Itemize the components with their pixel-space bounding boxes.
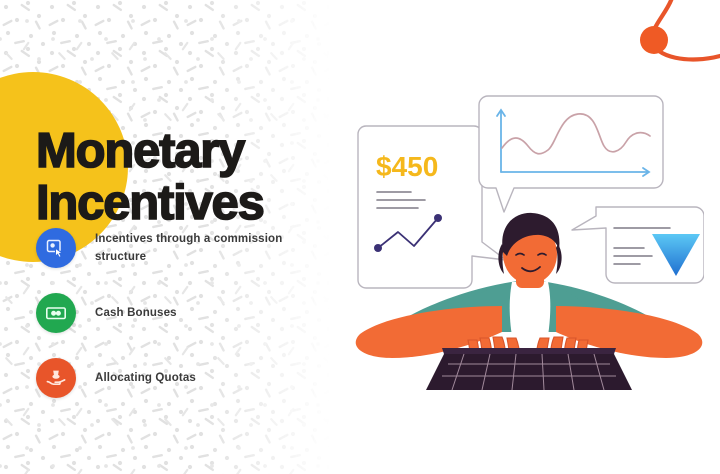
list-item[interactable]: Incentives through a commission structur… [36, 228, 306, 268]
benefits-list: Incentives through a commission structur… [36, 228, 306, 423]
funnel-card [572, 207, 704, 283]
cash-banknote-icon [36, 293, 76, 333]
illustration-person-typing: $450 [352, 92, 704, 402]
list-item-label: Allocating Quotas [95, 369, 196, 387]
amount-card-value: $450 [376, 151, 438, 182]
list-item[interactable]: Cash Bonuses [36, 293, 306, 333]
keyboard [426, 348, 632, 390]
page-title-line1: Monetary [36, 124, 244, 178]
list-item[interactable]: Allocating Quotas [36, 358, 306, 398]
page-title: Monetary Incentives [36, 125, 346, 229]
page-title-line2: Incentives [36, 177, 346, 229]
list-item-label: Cash Bonuses [95, 304, 177, 322]
orange-swoosh-decoration [590, 0, 720, 87]
hand-holding-coin-icon [36, 358, 76, 398]
hand-cursor-money-icon [36, 228, 76, 268]
slide-canvas: Monetary Incentives Incentives through a… [0, 0, 720, 474]
list-item-label: Incentives through a commission structur… [95, 230, 306, 266]
graph-card [479, 96, 663, 212]
